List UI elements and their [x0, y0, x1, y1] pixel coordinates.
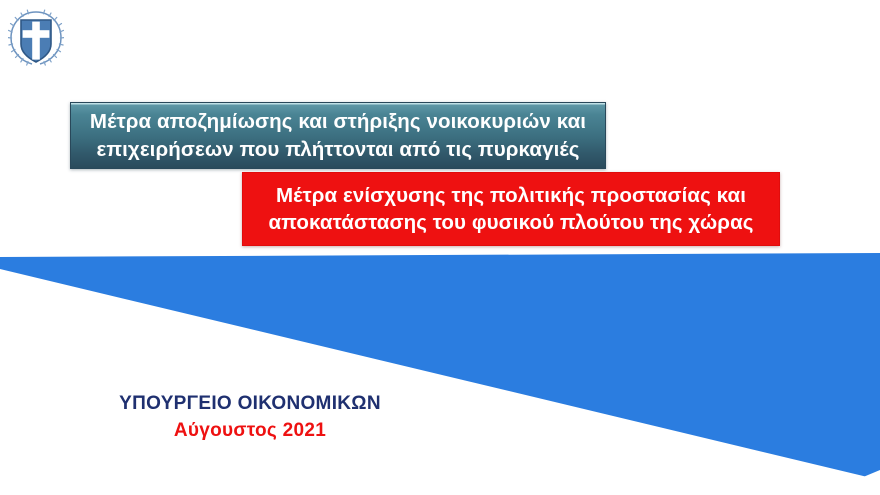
banner-protection-line-2: αποκατάστασης του φυσικού πλούτου της χώ… [268, 209, 753, 236]
banner-civil-protection-measures: Μέτρα ενίσχυσης της πολιτικής προστασίας… [242, 172, 780, 246]
banner-relief-line-2: επιχειρήσεων που πλήττονται από τις πυρκ… [97, 136, 580, 163]
presentation-slide: Μέτρα αποζημίωσης και στήριξης νοικοκυρι… [0, 0, 880, 495]
banner-relief-measures: Μέτρα αποζημίωσης και στήριξης νοικοκυρι… [70, 102, 606, 169]
slide-footer: ΥΠΟΥΡΓΕΙΟ ΟΙΚΟΝΟΜΙΚΩΝ Αύγουστος 2021 [0, 392, 500, 443]
banner-protection-line-1: Μέτρα ενίσχυσης της πολιτικής προστασίας… [276, 182, 746, 209]
footer-ministry-name: ΥΠΟΥΡΓΕΙΟ ΟΙΚΟΝΟΜΙΚΩΝ [0, 392, 500, 416]
banner-relief-line-1: Μέτρα αποζημίωσης και στήριξης νοικοκυρι… [90, 108, 586, 135]
footer-date: Αύγουστος 2021 [0, 419, 500, 443]
hellenic-republic-emblem-icon [8, 8, 64, 68]
